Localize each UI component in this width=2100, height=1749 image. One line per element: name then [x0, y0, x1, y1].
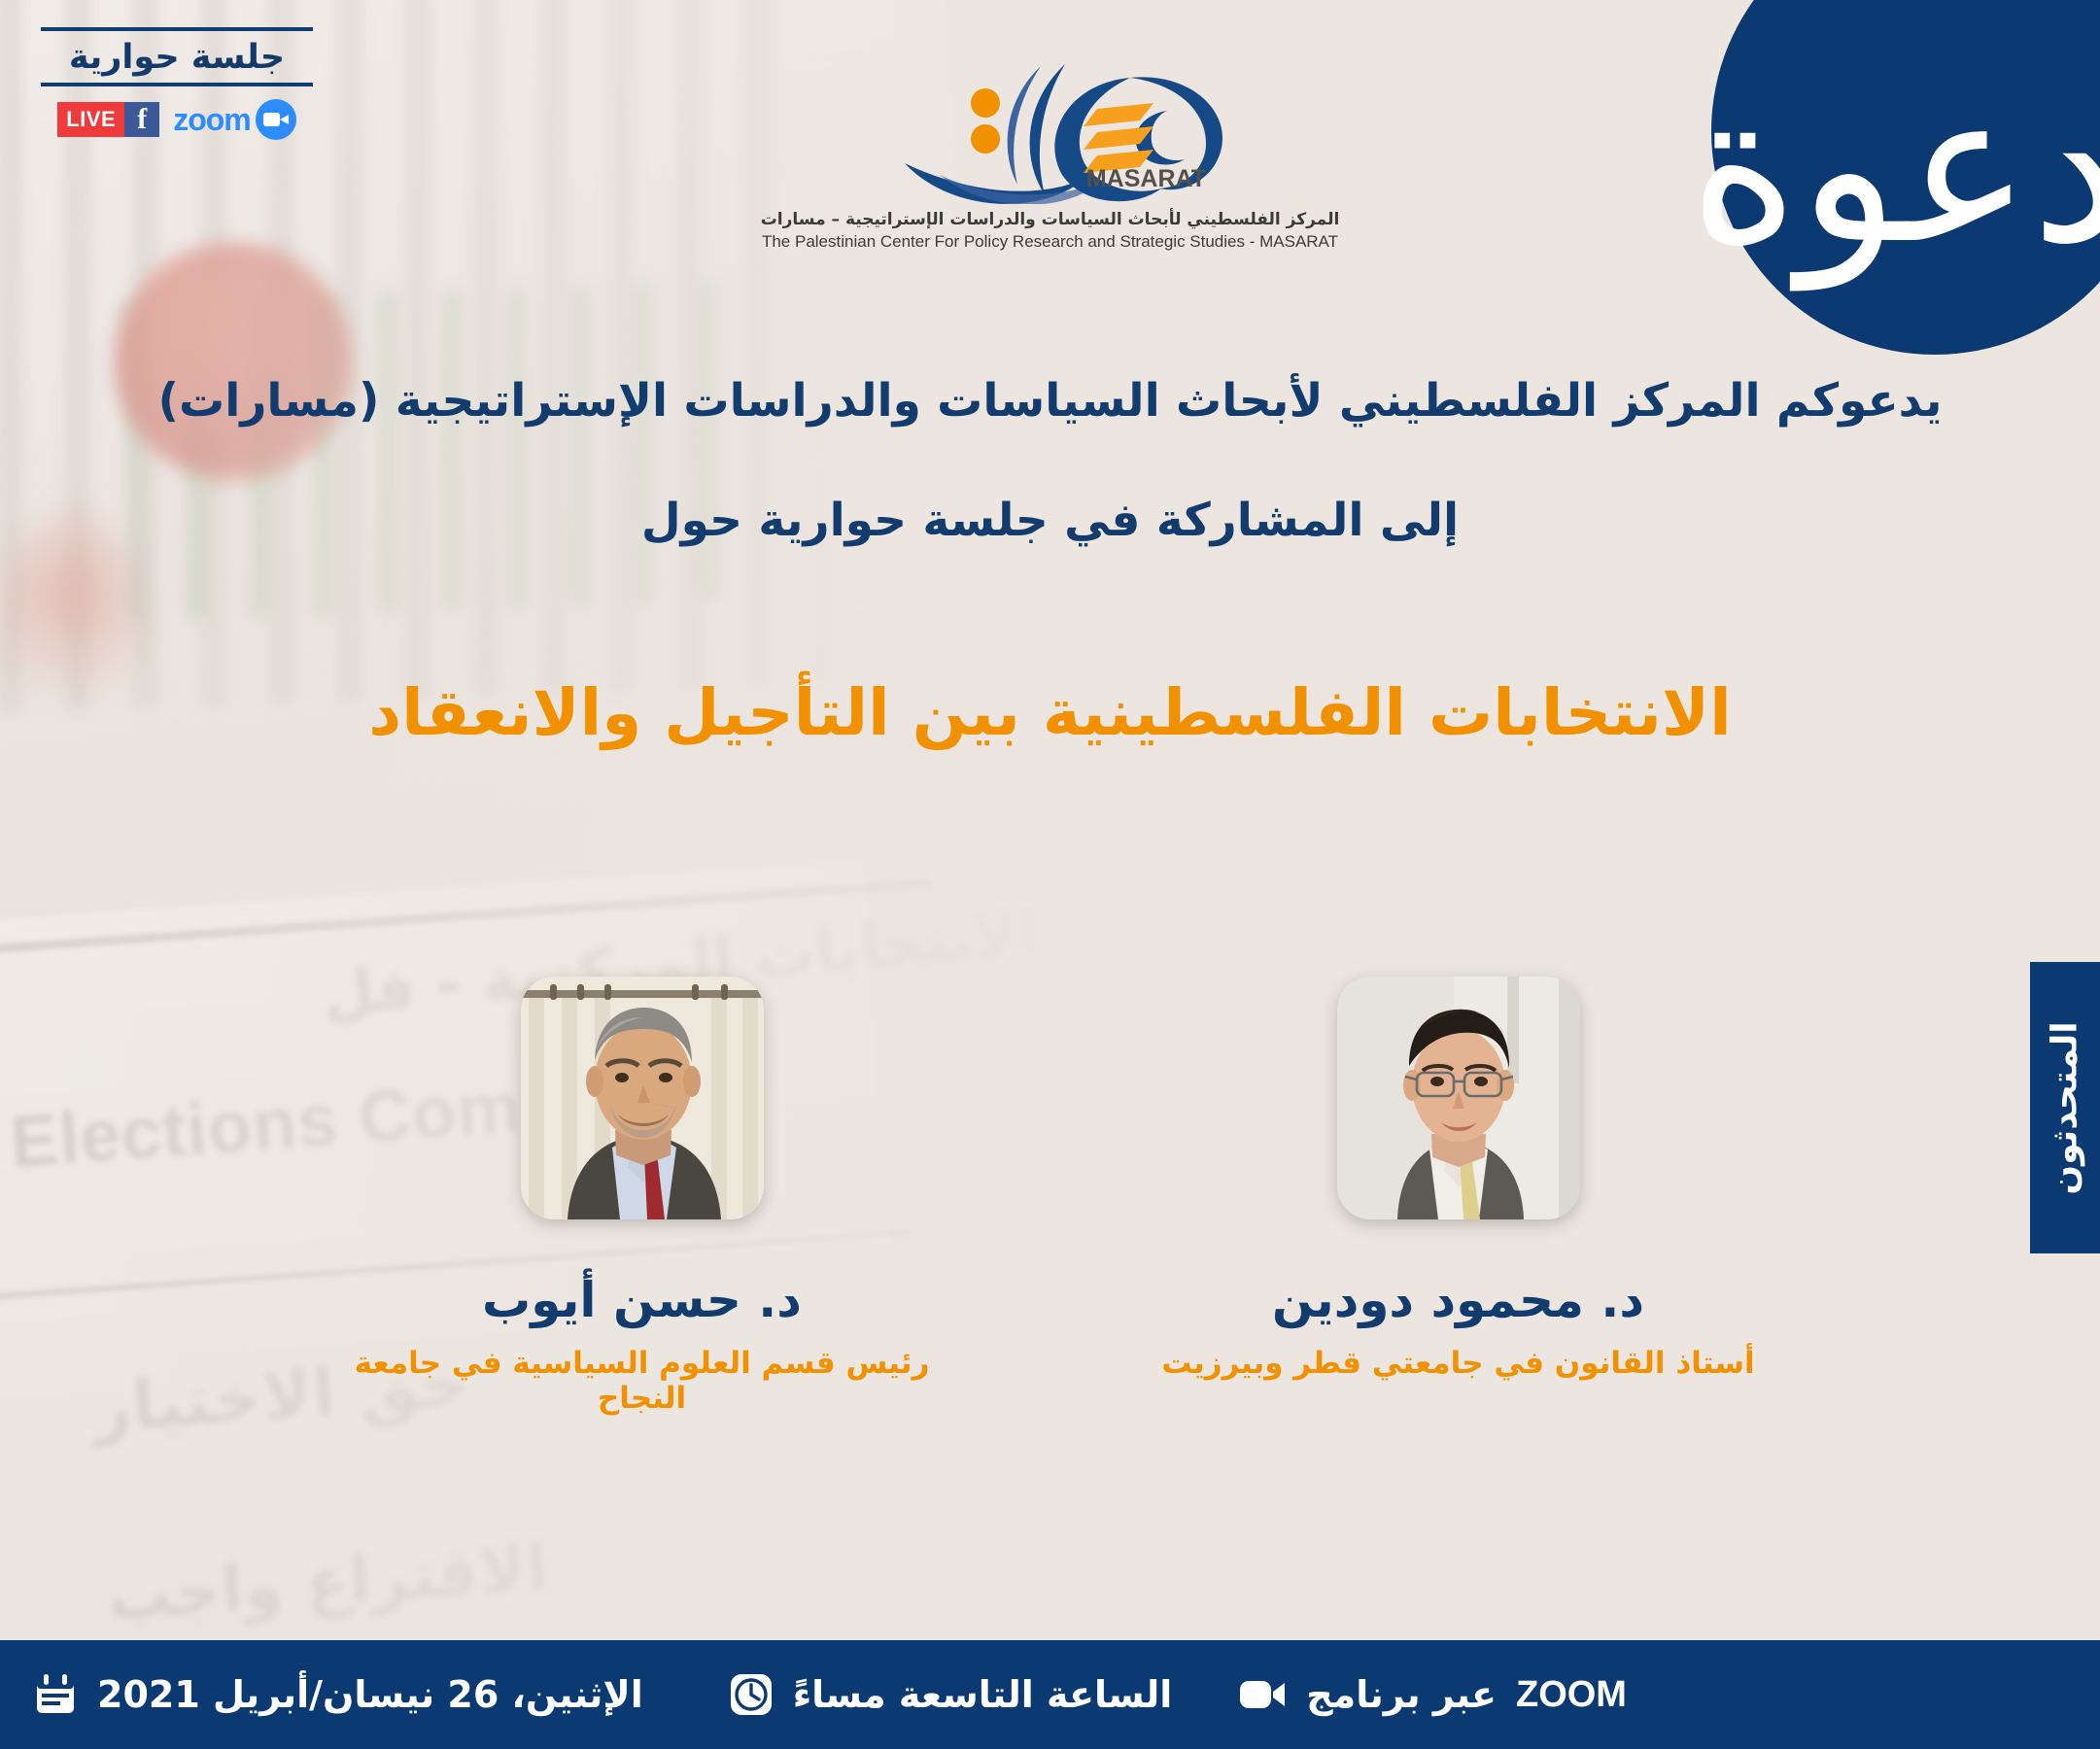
video-camera-icon — [1238, 1672, 1287, 1717]
clock-icon — [729, 1672, 774, 1717]
footer-platform: عبر برنامج ZOOM — [1205, 1672, 1660, 1717]
invitation-word: دعوة — [1689, 74, 2100, 262]
footer-time-text: الساعة التاسعة مساءً — [793, 1673, 1173, 1716]
footer-bar: الإثنين، 26 نيسان/أبريل 2021 الساعة التا… — [0, 1640, 2100, 1749]
facebook-icon: f — [124, 102, 159, 137]
footer-date: الإثنين، 26 نيسان/أبريل 2021 — [0, 1672, 696, 1717]
zoom-logo[interactable]: zoom — [173, 99, 296, 140]
invitation-line-2: إلى المشاركة في جلسة حوارية حول — [0, 494, 2100, 547]
footer-date-text: الإثنين، 26 نيسان/أبريل 2021 — [97, 1673, 643, 1716]
speaker-photo-doudin — [1337, 977, 1580, 1219]
masarat-tagline-arabic: المركز الفلسطيني لأبحاث السياسات والدراس… — [749, 210, 1352, 229]
avatar — [521, 977, 764, 1219]
session-rule-bottom — [41, 83, 313, 86]
speakers-list: د. محمود دودين أستاذ القانون في جامعتي ق… — [0, 977, 2100, 1416]
session-badge: جلسة حوارية zoom f LIVE — [41, 27, 313, 140]
footer-platform-prefix: عبر برنامج — [1306, 1673, 1497, 1716]
invitation-line-1: يدعوكم المركز الفلسطيني لأبحاث السياسات … — [0, 374, 2100, 428]
svg-text:MASARAT: MASARAT — [1085, 165, 1205, 192]
broadcast-logos: zoom f LIVE — [41, 99, 313, 140]
calendar-icon — [33, 1672, 78, 1717]
footer-platform-name: ZOOM — [1516, 1674, 1627, 1716]
invitation-badge: دعوة — [1711, 0, 2100, 355]
speaker-card: د. حسن أيوب رئيس قسم العلوم السياسية في … — [331, 977, 953, 1416]
masarat-logo-mark: MASARAT — [749, 58, 1352, 204]
invitation-poster: الانتخابات المركزية - فل Elections Commi… — [0, 0, 2100, 1749]
masarat-logo: MASARAT المركز الفلسطيني لأبحاث السياسات… — [749, 58, 1352, 252]
speaker-name: د. حسن أيوب — [331, 1272, 953, 1328]
zoom-wordmark: zoom — [173, 102, 251, 138]
facebook-live-logo[interactable]: f LIVE — [57, 102, 159, 137]
footer-time: الساعة التاسعة مساءً — [696, 1672, 1206, 1717]
zoom-camera-icon — [256, 99, 296, 140]
masarat-tagline-english: The Palestinian Center For Policy Resear… — [749, 232, 1352, 252]
speaker-photo-ayoub — [521, 977, 764, 1219]
speaker-role: أستاذ القانون في جامعتي قطر وبيرزيت — [1148, 1346, 1770, 1381]
speaker-card: د. محمود دودين أستاذ القانون في جامعتي ق… — [1148, 977, 1770, 1416]
page-title: الانتخابات الفلسطينية بين التأجيل والانع… — [0, 675, 2100, 750]
live-label: LIVE — [57, 102, 124, 137]
session-label: جلسة حوارية — [41, 31, 313, 81]
avatar — [1337, 977, 1580, 1219]
speaker-role: رئيس قسم العلوم السياسية في جامعة النجاح — [331, 1346, 953, 1416]
speaker-name: د. محمود دودين — [1148, 1272, 1770, 1328]
